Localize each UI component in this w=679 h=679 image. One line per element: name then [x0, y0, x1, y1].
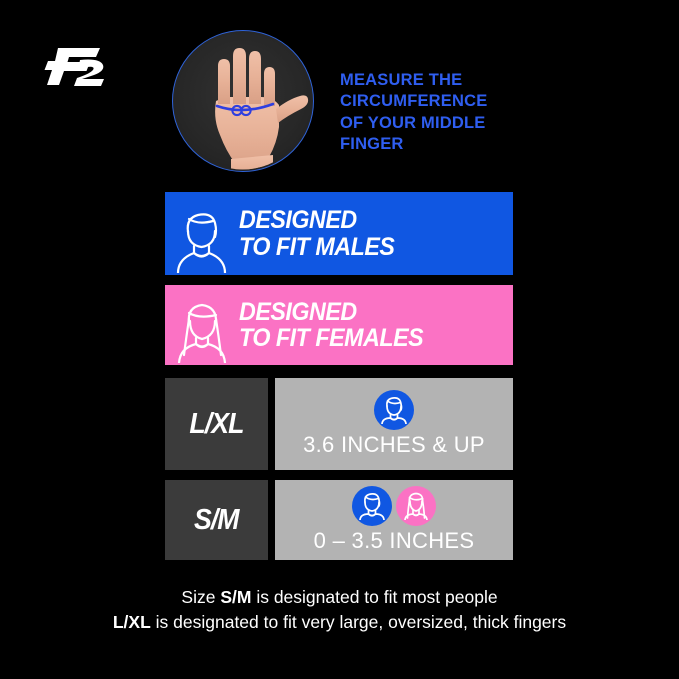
measure-heading-line-1: MEASURE THE: [340, 71, 462, 89]
banner-female-text: DESIGNED TO FIT FEMALES: [239, 299, 494, 352]
footer-line-1: Size S/M is designated to fit most peopl…: [0, 585, 679, 610]
banner-female-line-2: TO FIT FEMALES: [239, 325, 494, 351]
size-range-sm: 0 – 3.5 INCHES: [314, 528, 475, 554]
size-avatars-sm: [352, 486, 436, 526]
size-panel-sm: 0 – 3.5 INCHES: [275, 480, 513, 560]
banner-designed-for-females: DESIGNED TO FIT FEMALES: [165, 285, 513, 365]
size-tag-lxl: L/XL: [165, 378, 268, 470]
footer-line-2: L/XL is designated to fit very large, ov…: [0, 610, 679, 635]
banner-male-line-2: TO FIT MALES: [239, 234, 494, 260]
footer-line-2-suffix: is designated to fit very large, oversiz…: [151, 612, 566, 632]
measure-heading-line-4: FINGER: [340, 135, 404, 153]
footer-line-2-bold: L/XL: [113, 612, 151, 632]
banner-female-line-1: DESIGNED: [239, 298, 357, 326]
size-avatars-lxl: [374, 390, 414, 430]
footer-note: Size S/M is designated to fit most peopl…: [0, 585, 679, 636]
measure-heading: MEASURE THE CIRCUMFERENCE OF YOUR MIDDLE…: [340, 70, 520, 156]
male-head-icon: [359, 492, 385, 520]
measure-heading-line-2: CIRCUMFERENCE: [340, 92, 487, 110]
measure-section: MEASURE THE CIRCUMFERENCE OF YOUR MIDDLE…: [0, 0, 679, 185]
female-head-icon: [403, 492, 429, 520]
hand-measure-image: [172, 30, 314, 172]
size-panel-lxl: 3.6 INCHES & UP: [275, 378, 513, 470]
banner-male-text: DESIGNED TO FIT MALES: [239, 207, 494, 260]
footer-line-1-prefix: Size: [181, 587, 220, 607]
size-tag-sm-label: S/M: [194, 504, 239, 537]
footer-line-1-suffix: is designated to fit most people: [251, 587, 497, 607]
banner-male-line-1: DESIGNED: [239, 206, 357, 234]
size-row-lxl: L/XL 3.6 INCHES & UP: [165, 378, 513, 470]
male-avatar-icon: [165, 192, 239, 275]
male-head-icon: [381, 396, 407, 424]
male-avatar-circle-icon: [352, 486, 392, 526]
female-avatar-circle-icon: [396, 486, 436, 526]
male-figure-icon: [172, 207, 232, 273]
male-avatar-circle-icon: [374, 390, 414, 430]
female-avatar-icon: [165, 285, 239, 365]
size-row-sm: S/M: [165, 480, 513, 560]
banner-designed-for-males: DESIGNED TO FIT MALES: [165, 192, 513, 275]
size-tag-sm: S/M: [165, 480, 268, 560]
measure-heading-line-3: OF YOUR MIDDLE: [340, 114, 486, 132]
footer-line-1-bold: S/M: [220, 587, 251, 607]
size-tag-lxl-label: L/XL: [189, 408, 243, 441]
female-figure-icon: [172, 299, 232, 363]
hand-illustration-icon: [173, 31, 312, 170]
size-range-lxl: 3.6 INCHES & UP: [303, 432, 485, 458]
